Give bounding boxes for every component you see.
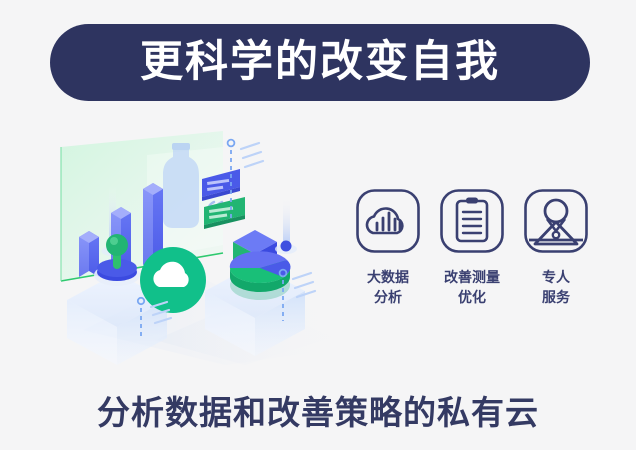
feature-list: 大数据 分析 改善测量 优化 [352, 188, 592, 336]
feature-dedicated-service[interactable]: 专人 服务 [520, 188, 592, 336]
bar-1 [79, 231, 99, 277]
feature-label: 改善测量 优化 [444, 267, 500, 308]
hatch-marks-1 [241, 143, 263, 167]
agent-person-icon [523, 188, 589, 254]
cloud-chart-icon [355, 188, 421, 254]
header-banner: 更科学的改变自我 [50, 24, 590, 101]
feature-label: 大数据 分析 [367, 267, 409, 308]
feature-big-data-analysis[interactable]: 大数据 分析 [352, 188, 424, 336]
measure-tube-right [275, 197, 297, 254]
footer-caption: 分析数据和改善策略的私有云 [0, 386, 636, 434]
hero-illustration [55, 125, 355, 365]
feature-label: 专人 服务 [542, 267, 570, 308]
cloud-badge [140, 247, 206, 313]
poster-canvas: 更科学的改变自我 [0, 0, 636, 450]
feature-improvement-measurement[interactable]: 改善测量 优化 [436, 188, 508, 336]
header-banner-title: 更科学的改变自我 [140, 41, 500, 84]
clipboard-icon [439, 188, 505, 254]
